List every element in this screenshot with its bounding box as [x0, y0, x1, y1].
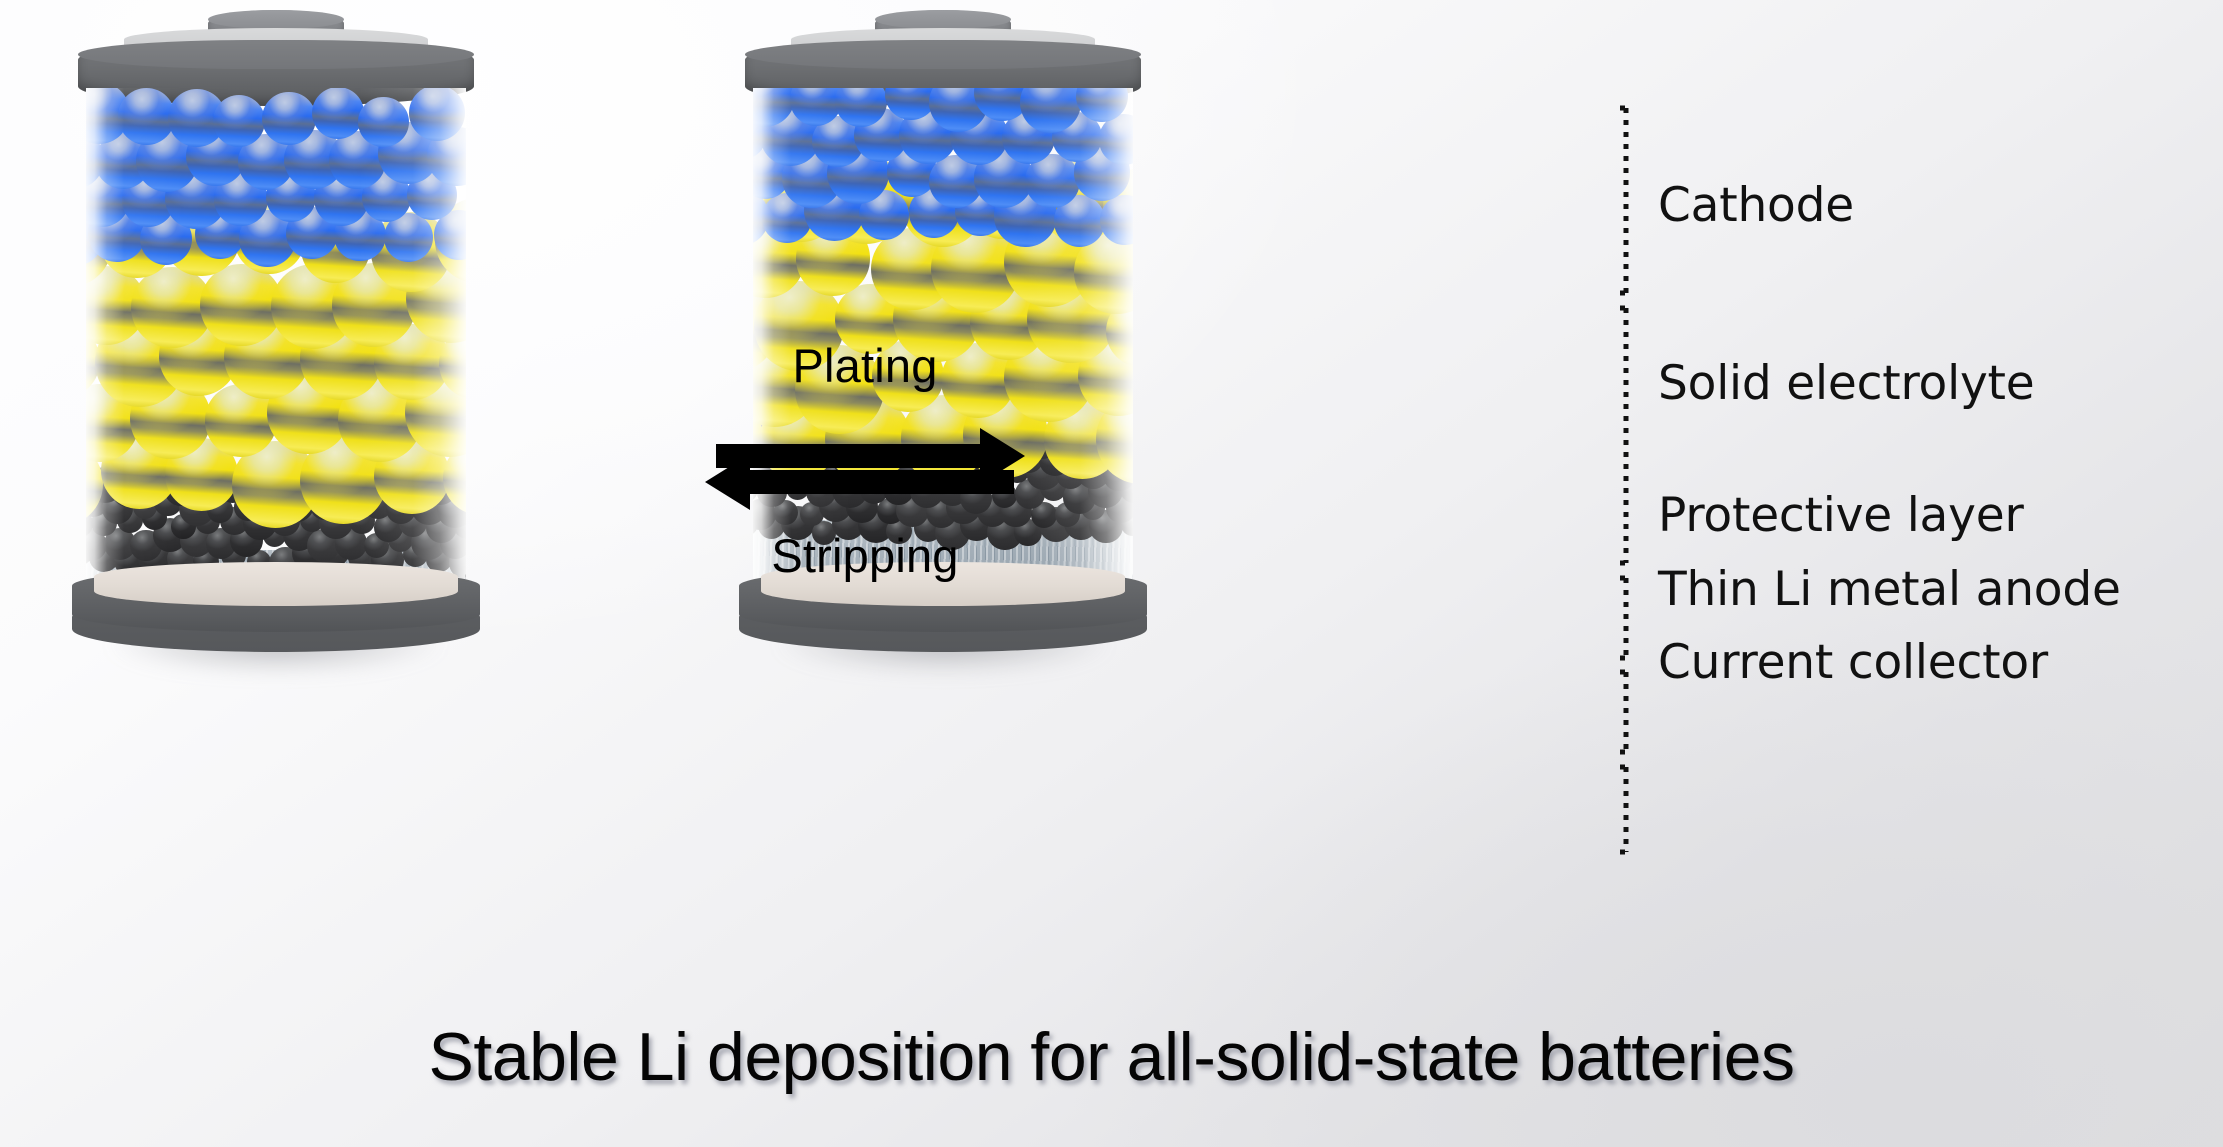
particle [262, 92, 316, 146]
legend-label-solid-electrolyte: Solid electrolyte [1658, 356, 2035, 411]
plating-label: Plating [680, 338, 1050, 393]
layer-cathode [86, 88, 466, 622]
particle [358, 97, 409, 148]
particle [213, 95, 265, 147]
figure-canvas: Plating Stripping [0, 0, 2223, 1147]
layer-legend: Cathode Solid electrolyte Protective lay… [1600, 80, 2220, 880]
double-arrow-icon [680, 408, 1050, 518]
legend-label-thin-li-metal-anode: Thin Li metal anode [1658, 562, 2121, 617]
particle [1100, 195, 1133, 244]
legend-label-protective-layer: Protective layer [1658, 488, 2024, 543]
legend-label-cathode: Cathode [1658, 178, 1854, 233]
plating-stripping-arrows: Plating Stripping [680, 320, 1050, 600]
legend-label-current-collector: Current collector [1658, 635, 2048, 690]
battery-cell-discharged [78, 10, 474, 650]
glass-casing [86, 88, 466, 622]
base-collector-face [94, 562, 458, 606]
particle [118, 88, 175, 145]
stripping-label: Stripping [680, 528, 1050, 583]
figure-caption: Stable Li deposition for all-solid-state… [0, 1018, 2223, 1096]
